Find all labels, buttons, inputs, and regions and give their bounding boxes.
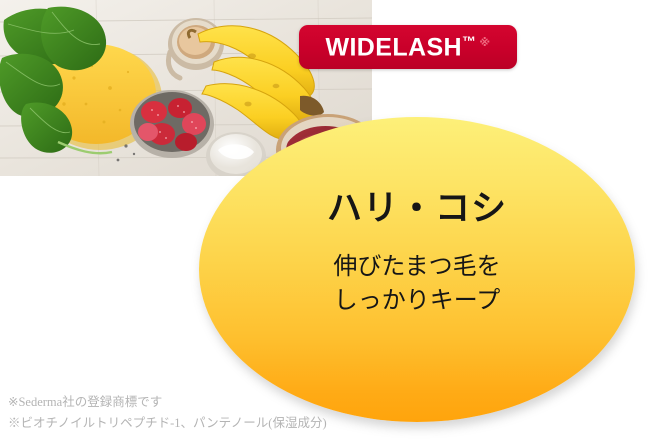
footnotes: ※Sederma社の登録商標です ※ビオチノイルトリペプチド-1、パンテノール(…: [8, 392, 338, 433]
widelash-badge-label: WIDELASH™※: [325, 34, 490, 60]
benefit-description: 伸びたまつ毛を しっかりキープ: [333, 250, 500, 318]
trademark-icon: ™: [462, 33, 476, 49]
benefit-oval-content: ハリ・コシ 伸びたまつ毛を しっかりキープ: [199, 117, 635, 422]
widelash-brand-name: WIDELASH: [325, 33, 462, 61]
widelash-badge: WIDELASH™※: [299, 25, 517, 69]
benefit-oval: ハリ・コシ 伸びたまつ毛を しっかりキープ: [199, 117, 635, 422]
footnote-item: ※ビオチノイルトリペプチド-1、パンテノール(保湿成分): [8, 413, 338, 434]
footnote-item: ※Sederma社の登録商標です: [8, 392, 338, 413]
slide-canvas: ハリ・コシ 伸びたまつ毛を しっかりキープ WIDELASH™※ ※Sederm…: [0, 0, 650, 440]
benefit-description-line-1: 伸びたまつ毛を: [333, 250, 500, 284]
benefit-heading: ハリ・コシ: [327, 191, 507, 226]
reference-mark-icon: ※: [479, 37, 490, 49]
benefit-description-line-2: しっかりキープ: [333, 284, 500, 318]
